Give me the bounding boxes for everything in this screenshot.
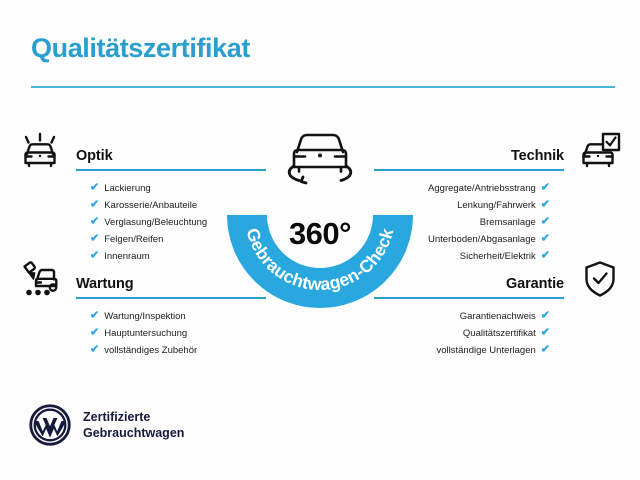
section-title: Technik bbox=[511, 148, 564, 164]
check-icon: ✔ bbox=[90, 328, 99, 339]
section-title: Wartung bbox=[76, 276, 134, 292]
check-icon: ✔ bbox=[90, 311, 99, 322]
list-item-label: Bremsanlage bbox=[480, 218, 536, 228]
check-icon: ✔ bbox=[541, 234, 550, 245]
list-item-label: vollständiges Zubehör bbox=[104, 346, 197, 356]
list-item-label: Wartung/Inspektion bbox=[104, 312, 186, 322]
list-item-label: Lenkung/Fahrwerk bbox=[457, 201, 536, 211]
volkswagen-logo bbox=[29, 404, 71, 446]
page-title: Qualitätszertifikat bbox=[31, 33, 250, 64]
list-item-label: Verglasung/Beleuchtung bbox=[104, 218, 207, 228]
list-item: ✔Hauptuntersuchung bbox=[14, 325, 262, 342]
footer-lockup: Zertifizierte Gebrauchtwagen bbox=[29, 404, 184, 446]
list-item: ✔vollständiges Zubehör bbox=[14, 342, 262, 359]
check-list-garantie: Garantienachweis✔ Qualitätszertifikat✔ v… bbox=[378, 308, 626, 359]
list-item: Qualitätszertifikat✔ bbox=[378, 325, 626, 342]
360-check-badge: Gebrauchtwagen-Check 360° bbox=[223, 118, 417, 312]
check-icon: ✔ bbox=[90, 234, 99, 245]
car-rotate-icon bbox=[275, 122, 365, 194]
check-icon: ✔ bbox=[541, 183, 550, 194]
footer-line-1: Zertifizierte bbox=[83, 409, 184, 425]
sparkling-car-icon bbox=[14, 128, 66, 174]
check-icon: ✔ bbox=[90, 217, 99, 228]
check-icon: ✔ bbox=[541, 345, 550, 356]
list-item-label: Garantienachweis bbox=[460, 312, 536, 322]
section-title: Optik bbox=[76, 148, 113, 164]
service-pen-car-icon bbox=[14, 256, 66, 302]
list-item-label: Lackierung bbox=[104, 184, 150, 194]
list-item: vollständige Unterlagen✔ bbox=[378, 342, 626, 359]
section-title: Garantie bbox=[506, 276, 564, 292]
list-item-label: Hauptuntersuchung bbox=[104, 329, 187, 339]
check-icon: ✔ bbox=[90, 345, 99, 356]
badge-value: 360° bbox=[223, 216, 417, 252]
list-item-label: Qualitätszertifikat bbox=[463, 329, 536, 339]
list-item-label: Karosserie/Anbauteile bbox=[104, 201, 197, 211]
shield-check-icon bbox=[574, 256, 626, 302]
check-icon: ✔ bbox=[541, 328, 550, 339]
car-checkbox-icon bbox=[574, 128, 626, 174]
check-icon: ✔ bbox=[541, 200, 550, 211]
footer-text: Zertifizierte Gebrauchtwagen bbox=[83, 409, 184, 441]
title-divider bbox=[31, 86, 615, 88]
list-item-label: Aggregate/Antriebsstrang bbox=[428, 184, 536, 194]
list-item-label: vollständige Unterlagen bbox=[436, 346, 535, 356]
list-item-label: Unterboden/Abgasanlage bbox=[428, 235, 536, 245]
check-icon: ✔ bbox=[541, 311, 550, 322]
check-icon: ✔ bbox=[90, 200, 99, 211]
footer-line-2: Gebrauchtwagen bbox=[83, 425, 184, 441]
check-icon: ✔ bbox=[90, 183, 99, 194]
check-list-wartung: ✔Wartung/Inspektion ✔Hauptuntersuchung ✔… bbox=[14, 308, 262, 359]
certificate-page: Qualitätszertifikat Optik bbox=[0, 0, 640, 480]
check-icon: ✔ bbox=[541, 217, 550, 228]
list-item-label: Felgen/Reifen bbox=[104, 235, 163, 245]
